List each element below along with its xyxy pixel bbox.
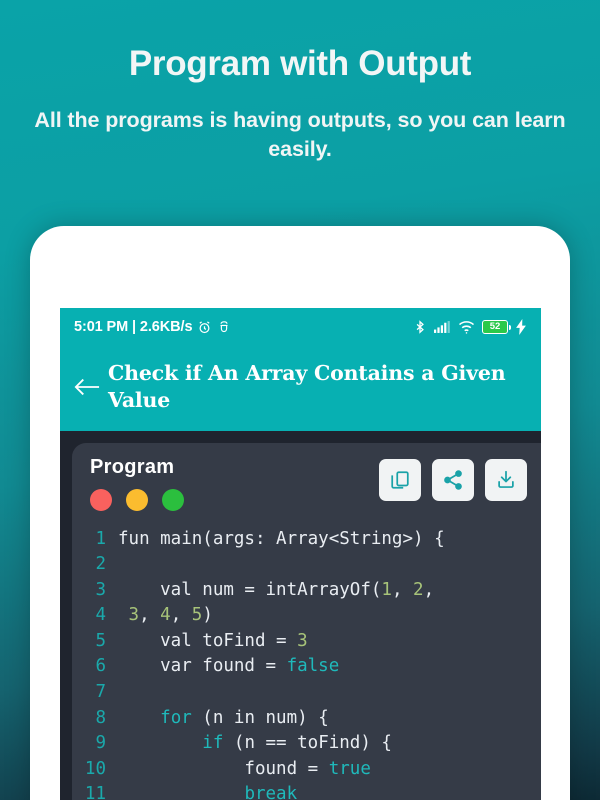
line-number: 3: [76, 578, 118, 604]
code-token: fun main(args: Array<String>) {: [118, 529, 445, 549]
back-arrow-icon: [74, 377, 100, 397]
code-line: 4 3, 4, 5): [76, 603, 541, 629]
code-token: 3: [129, 605, 140, 625]
status-bar-left: 5:01 PM | 2.6KB/s: [74, 319, 231, 335]
code-area: Program: [60, 431, 541, 800]
code-line-text: val num = intArrayOf(1, 2,: [118, 578, 434, 604]
code-token: [118, 733, 202, 753]
code-token: for: [160, 708, 192, 728]
line-number: 8: [76, 706, 118, 732]
line-number: 7: [76, 680, 118, 706]
code-token: (n == toFind) {: [223, 733, 392, 753]
code-token: if: [202, 733, 223, 753]
battery-level-text: 52: [490, 322, 501, 332]
code-token: break: [244, 784, 297, 800]
share-button[interactable]: [432, 459, 474, 501]
code-token: true: [329, 759, 371, 779]
window-dot-red: [90, 489, 112, 511]
code-line-text: 3, 4, 5): [118, 603, 213, 629]
code-line: 7: [76, 680, 541, 706]
line-number: 11: [76, 782, 118, 800]
code-token: [118, 605, 129, 625]
code-token: 4: [160, 605, 171, 625]
phone-mockup: 5:01 PM | 2.6KB/s: [30, 226, 570, 800]
app-bar: Check if An Array Contains a Given Value: [60, 346, 541, 431]
line-number: 1: [76, 527, 118, 553]
code-token: ,: [424, 580, 435, 600]
copy-icon: [389, 469, 411, 491]
window-dot-green: [162, 489, 184, 511]
code-line: 8 for (n in num) {: [76, 706, 541, 732]
program-card: Program: [72, 443, 541, 800]
window-dots: [90, 489, 184, 511]
copy-button[interactable]: [379, 459, 421, 501]
do-not-disturb-icon: [217, 320, 231, 335]
code-token: 3: [297, 631, 308, 651]
download-button[interactable]: [485, 459, 527, 501]
code-line: 6 var found = false: [76, 654, 541, 680]
back-button[interactable]: [70, 370, 104, 404]
download-icon: [495, 469, 517, 491]
code-token: ,: [392, 580, 413, 600]
code-line-text: found = true: [118, 757, 371, 783]
charging-bolt-icon: [515, 319, 527, 335]
line-number: 5: [76, 629, 118, 655]
line-number: 9: [76, 731, 118, 757]
code-token: var found =: [118, 656, 287, 676]
code-token: (n in num) {: [192, 708, 329, 728]
code-line: 1fun main(args: Array<String>) {: [76, 527, 541, 553]
code-token: val toFind =: [118, 631, 297, 651]
phone-screen: 5:01 PM | 2.6KB/s: [60, 308, 541, 800]
bluetooth-icon: [413, 319, 427, 335]
cellular-signal-icon: [434, 320, 451, 334]
line-number: 6: [76, 654, 118, 680]
code-token: ): [202, 605, 213, 625]
app-bar-title: Check if An Array Contains a Given Value: [104, 358, 527, 415]
code-line: 5 val toFind = 3: [76, 629, 541, 655]
code-line-text: if (n == toFind) {: [118, 731, 392, 757]
status-bar: 5:01 PM | 2.6KB/s: [60, 308, 541, 346]
code-token: 5: [192, 605, 203, 625]
line-number: 2: [76, 552, 118, 578]
code-token: ,: [171, 605, 192, 625]
code-token: val num = intArrayOf(: [118, 580, 381, 600]
code-token: 1: [381, 580, 392, 600]
code-line: 10 found = true: [76, 757, 541, 783]
promo-banner: Program with Output All the programs is …: [0, 0, 600, 800]
line-number: 4: [76, 603, 118, 629]
code-token: [118, 708, 160, 728]
code-token: 2: [413, 580, 424, 600]
code-line-text: for (n in num) {: [118, 706, 329, 732]
headline-block: Program with Output All the programs is …: [0, 44, 600, 163]
code-line-text: break: [118, 782, 297, 800]
program-card-header-left: Program: [90, 457, 184, 511]
code-token: [118, 784, 244, 800]
share-icon: [442, 469, 464, 491]
program-label: Program: [90, 457, 184, 477]
code-token: false: [287, 656, 340, 676]
code-line: 11 break: [76, 782, 541, 800]
line-number: 10: [76, 757, 118, 783]
code-line: 2: [76, 552, 541, 578]
page-subtitle: All the programs is having outputs, so y…: [34, 106, 566, 163]
wifi-icon: [458, 320, 475, 334]
status-time-and-speed: 5:01 PM | 2.6KB/s: [74, 319, 192, 335]
page-title: Program with Output: [34, 44, 566, 84]
program-card-header: Program: [72, 457, 541, 511]
battery-indicator: 52: [482, 320, 508, 334]
alarm-clock-icon: [197, 320, 212, 335]
code-line-text: fun main(args: Array<String>) {: [118, 527, 445, 553]
code-line-text: val toFind = 3: [118, 629, 308, 655]
code-line-text: var found = false: [118, 654, 339, 680]
code-token: ,: [139, 605, 160, 625]
window-dot-yellow: [126, 489, 148, 511]
code-line: 3 val num = intArrayOf(1, 2,: [76, 578, 541, 604]
code-line: 9 if (n == toFind) {: [76, 731, 541, 757]
status-bar-right: 52: [413, 319, 527, 335]
code-block[interactable]: 1fun main(args: Array<String>) {23 val n…: [72, 527, 541, 800]
code-token: found =: [118, 759, 329, 779]
card-actions: [379, 457, 527, 501]
